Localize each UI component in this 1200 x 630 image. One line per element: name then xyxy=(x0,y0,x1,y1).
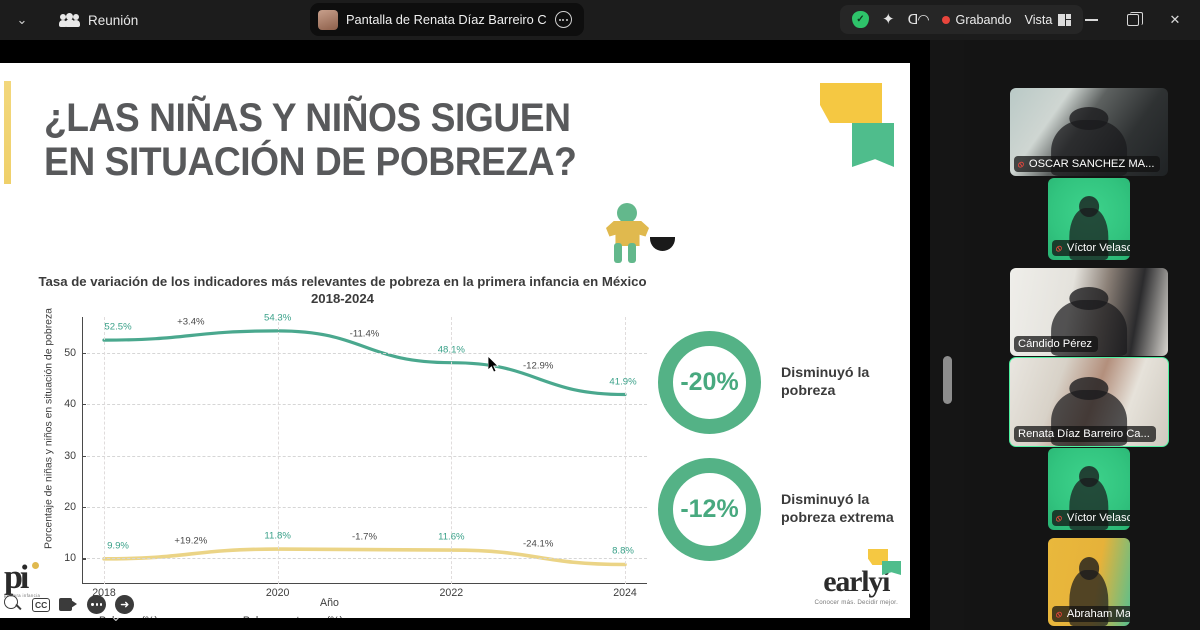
breakout-rooms-icon[interactable]: ᗡ◠ xyxy=(908,11,929,28)
mouse-cursor xyxy=(488,356,500,374)
presentation-slide: ¿LAS NIÑAS Y NIÑOS SIGUEN EN SITUACIÓN D… xyxy=(0,63,910,618)
participant-video: Renata Díaz Barreiro Ca... xyxy=(1010,358,1168,446)
muted-mic-icon: ⦸ xyxy=(1055,243,1063,254)
chart-x-axis-label: Año xyxy=(320,597,339,609)
chart-change-label: -11.4% xyxy=(350,328,380,339)
chart-change-label: +3.4% xyxy=(177,317,204,328)
view-switcher[interactable]: Vista xyxy=(1025,13,1072,27)
stat-label-line1: Disminuyó la xyxy=(781,365,869,382)
people-icon xyxy=(60,13,79,28)
restore-window-button[interactable] xyxy=(1112,0,1154,40)
participant-name-tag: ⦸Víctor Velasco xyxy=(1052,510,1130,526)
poverty-line-chart: Porcentaje de niñas y niños en situación… xyxy=(20,315,650,615)
chart-plot-area: 1020304050201820202022202452.5%54.3%48.1… xyxy=(82,317,647,584)
shield-check-icon[interactable] xyxy=(852,11,869,28)
muted-mic-icon: ⦸ xyxy=(1055,609,1063,620)
chart-change-label: +19.2% xyxy=(174,535,207,546)
participant-video: ⦸OSCAR SANCHEZ MA... xyxy=(1010,88,1168,176)
recording-indicator[interactable]: Grabando xyxy=(942,13,1012,27)
chart-value-label: 41.9% xyxy=(609,376,636,387)
earlyi-flag-icon xyxy=(868,549,902,575)
chart-gridline xyxy=(278,317,279,584)
participant-rail[interactable]: ⦸OSCAR SANCHEZ MA...⦸Víctor VelascoCándi… xyxy=(964,40,1200,630)
left-accent-bar xyxy=(4,81,11,184)
chart-value-label: 48.1% xyxy=(438,344,465,355)
participant-name: OSCAR SANCHEZ MA... xyxy=(1029,158,1155,170)
chart-series-svg xyxy=(82,317,647,584)
meeting-label: Reunión xyxy=(88,13,138,28)
more-options-icon[interactable] xyxy=(87,595,106,614)
participant-tile[interactable]: ⦸OSCAR SANCHEZ MA... xyxy=(1010,88,1168,176)
captions-button[interactable]: CC xyxy=(32,598,50,612)
stat-callout: -12% Disminuyó la pobreza extrema xyxy=(658,458,894,561)
chart-gridline xyxy=(82,558,647,559)
chart-value-label: 11.6% xyxy=(438,532,465,543)
participant-tile[interactable]: Renata Díaz Barreiro Ca... xyxy=(1010,358,1168,446)
stat-label: Disminuyó la pobreza xyxy=(781,365,869,400)
participant-name: Víctor Velasco xyxy=(1067,242,1130,254)
window-top-bar: ⌄ Reunión Pantalla de Renata Díaz Barrei… xyxy=(0,0,1200,40)
recording-dot-icon xyxy=(942,16,950,24)
shared-screen-pill[interactable]: Pantalla de Renata Díaz Barreiro C xyxy=(310,3,584,36)
minimize-button[interactable] xyxy=(1070,0,1112,40)
meeting-status-group: ✦ ᗡ◠ Grabando Vista xyxy=(840,5,1083,34)
legend-item-pobreza: Pobreza (%) xyxy=(60,615,158,618)
participant-name-tag: ⦸Víctor Velasco xyxy=(1052,240,1130,256)
yellow-green-flag-decoration xyxy=(820,83,892,168)
participant-name-tag: Renata Díaz Barreiro Ca... xyxy=(1014,426,1156,442)
chart-value-label: 54.3% xyxy=(264,312,291,323)
chart-gridline xyxy=(625,317,626,584)
participant-name: Cándido Pérez xyxy=(1018,338,1092,350)
meeting-label-group[interactable]: Reunión xyxy=(60,13,138,28)
participant-video: ⦸Víctor Velasco xyxy=(1048,178,1130,260)
window-controls: ✕ xyxy=(1070,0,1196,40)
collapse-chevron-icon[interactable]: ⌄ xyxy=(0,0,44,40)
child-with-bowl-icon xyxy=(600,201,672,263)
participant-video: ⦸Víctor Velasco xyxy=(1048,448,1130,530)
chart-gridline xyxy=(82,353,647,354)
page-title: ¿LAS NIÑAS Y NIÑOS SIGUEN EN SITUACIÓN D… xyxy=(44,97,602,184)
participant-tile[interactable]: ⦸Víctor Velasco xyxy=(1048,448,1130,530)
search-icon[interactable] xyxy=(4,595,23,614)
pi-logo-dot-icon xyxy=(32,562,39,569)
stat-label-line2: pobreza xyxy=(781,383,869,400)
participant-name: Abraham Madero xyxy=(1067,608,1130,620)
ai-sparkle-icon[interactable]: ✦ xyxy=(882,12,895,27)
chart-x-tick: 2024 xyxy=(613,587,637,599)
earlyi-logo-tagline: Conocer más. Decidir mejor. xyxy=(815,599,898,606)
chart-gridline xyxy=(82,507,647,508)
avatar xyxy=(318,10,338,30)
view-label: Vista xyxy=(1025,13,1053,27)
chart-title: Tasa de variación de los indicadores más… xyxy=(20,273,665,308)
participant-name-tag: ⦸OSCAR SANCHEZ MA... xyxy=(1014,156,1160,172)
chart-series-line xyxy=(104,549,625,564)
stat-label-line2: pobreza extrema xyxy=(781,510,894,527)
chart-value-label: 11.8% xyxy=(264,531,291,542)
chart-legend: Pobreza (%) Pobreza extrema (%) xyxy=(60,615,343,618)
recording-label: Grabando xyxy=(956,13,1012,27)
shared-screen-label: Pantalla de Renata Díaz Barreiro C xyxy=(346,12,547,27)
legend-label: Pobreza (%) xyxy=(99,615,158,618)
chart-change-label: -12.9% xyxy=(523,360,553,371)
close-button[interactable]: ✕ xyxy=(1154,0,1196,40)
chart-y-tick: 40 xyxy=(64,398,82,410)
chart-x-tick: 2022 xyxy=(440,587,464,599)
chart-x-tick: 2020 xyxy=(266,587,290,599)
stat-callout: -20% Disminuyó la pobreza xyxy=(658,331,894,434)
muted-mic-icon: ⦸ xyxy=(1017,159,1025,170)
legend-item-pobreza-extrema: Pobreza extrema (%) xyxy=(204,615,343,618)
participant-tile[interactable]: Cándido Pérez xyxy=(1010,268,1168,356)
chart-gridline xyxy=(82,404,647,405)
chart-y-tick: 20 xyxy=(64,501,82,513)
stat-label-line1: Disminuyó la xyxy=(781,492,894,509)
donut-chart-poverty: -20% xyxy=(658,331,761,434)
participant-name-tag: Cándido Pérez xyxy=(1014,336,1098,352)
stat-label: Disminuyó la pobreza extrema xyxy=(781,492,894,527)
chart-value-label: 9.9% xyxy=(107,540,129,551)
page-title-line1: ¿LAS NIÑAS Y NIÑOS SIGUEN xyxy=(44,97,602,141)
chevron-down-icon[interactable]: ⌄ xyxy=(110,608,122,625)
participant-name-tag: ⦸Abraham Madero xyxy=(1052,606,1130,622)
participant-video: Cándido Pérez xyxy=(1010,268,1168,356)
participant-name: Víctor Velasco xyxy=(1067,512,1130,524)
chart-gridline xyxy=(451,317,452,584)
meeting-window: ⌄ Reunión Pantalla de Renata Díaz Barrei… xyxy=(0,0,1200,630)
video-icon[interactable] xyxy=(59,598,78,611)
chart-value-label: 52.5% xyxy=(104,322,131,333)
participant-video: ⦸Abraham Madero xyxy=(1048,538,1130,626)
participant-name: Renata Díaz Barreiro Ca... xyxy=(1018,428,1150,440)
chart-value-label: 8.8% xyxy=(612,546,634,557)
more-options-icon[interactable] xyxy=(555,11,572,28)
chart-y-tick: 50 xyxy=(64,347,82,359)
shared-screen-stage[interactable]: ¿LAS NIÑAS Y NIÑOS SIGUEN EN SITUACIÓN D… xyxy=(0,40,930,630)
page-title-line2: EN SITUACIÓN DE POBREZA? xyxy=(44,141,602,185)
stage-rail-divider xyxy=(930,40,964,630)
participant-tile[interactable]: ⦸Abraham Madero xyxy=(1048,538,1130,626)
pi-logo-mark: pi xyxy=(4,561,48,595)
legend-label: Pobreza extrema (%) xyxy=(243,615,343,618)
muted-mic-icon: ⦸ xyxy=(1055,513,1063,524)
earlyi-logo: earlyi Conocer más. Decidir mejor. xyxy=(815,567,898,606)
donut-chart-extreme-poverty: -12% xyxy=(658,458,761,561)
stat-callouts: -20% Disminuyó la pobreza -12% Disminuyó… xyxy=(658,331,894,561)
chart-change-label: -24.1% xyxy=(523,539,553,550)
participant-tile[interactable]: ⦸Víctor Velasco xyxy=(1048,178,1130,260)
chart-gridline xyxy=(104,317,105,584)
chart-y-tick: 10 xyxy=(64,552,82,564)
divider-drag-handle[interactable] xyxy=(943,356,952,404)
chart-change-label: -1.7% xyxy=(352,531,377,542)
chart-y-tick: 30 xyxy=(64,450,82,462)
chart-y-axis-label: Porcentaje de niñas y niños en situación… xyxy=(44,304,55,554)
chart-gridline xyxy=(82,456,647,457)
